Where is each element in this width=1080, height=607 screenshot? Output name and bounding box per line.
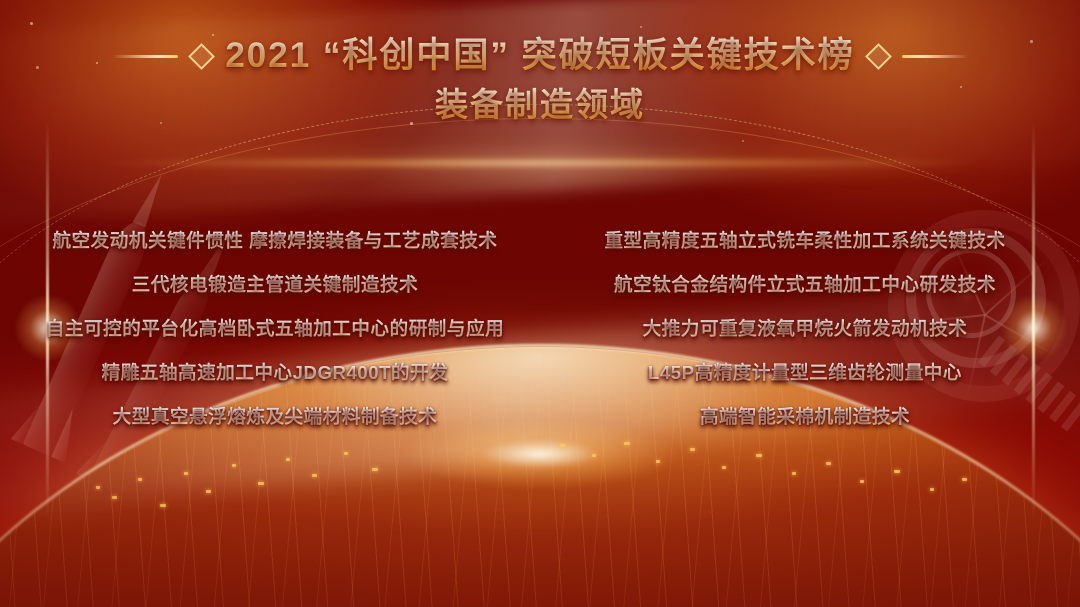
city-light <box>312 474 317 477</box>
list-item: 航空钛合金结构件立式五轴加工中心研发技术 <box>570 272 1040 298</box>
poster-canvas: 2021 “科创中国” 突破短板关键技术榜 装备制造领域 航空发动机关键件惯性 … <box>0 0 1080 607</box>
city-light <box>160 504 166 507</box>
list-item: 大推力可重复液氧甲烷火箭发动机技术 <box>570 316 1040 342</box>
list-item: 精雕五轴高速加工中心JDGR400T的开发 <box>40 360 510 386</box>
particle <box>742 140 744 142</box>
technology-list-right-column: 重型高精度五轴立式铣车柔性加工系统关键技术 航空钛合金结构件立式五轴加工中心研发… <box>570 228 1040 430</box>
city-light <box>96 486 100 489</box>
particle <box>268 148 270 150</box>
city-light <box>826 462 831 465</box>
city-light <box>722 466 726 469</box>
technology-list-left-column: 航空发动机关键件惯性 摩擦焊接装备与工艺成套技术 三代核电锻造主管道关键制造技术… <box>40 228 510 430</box>
list-item: L45P高精度计量型三维齿轮测量中心 <box>570 360 1040 386</box>
page-subtitle: 装备制造领域 <box>0 82 1080 128</box>
city-light <box>232 464 236 467</box>
city-light <box>656 460 660 463</box>
city-light <box>206 490 211 493</box>
city-light <box>792 472 796 475</box>
list-item: 自主可控的平台化高档卧式五轴加工中心的研制与应用 <box>40 316 510 342</box>
page-title: 2021 “科创中国” 突破短板关键技术榜 <box>225 32 854 80</box>
list-item: 航空发动机关键件惯性 摩擦焊接装备与工艺成套技术 <box>40 228 510 254</box>
list-item: 高端智能采棉机制造技术 <box>570 404 1040 430</box>
city-light <box>930 488 934 491</box>
particle <box>640 26 642 28</box>
city-light <box>860 480 864 483</box>
city-light <box>112 496 117 499</box>
diamond-ornament-right-icon <box>865 43 892 70</box>
particle <box>30 22 33 25</box>
poster-header: 2021 “科创中国” 突破短板关键技术榜 装备制造领域 <box>0 32 1080 128</box>
technology-list: 航空发动机关键件惯性 摩擦焊接装备与工艺成套技术 三代核电锻造主管道关键制造技术… <box>0 228 1080 430</box>
city-light <box>962 478 967 481</box>
light-streak <box>86 158 993 168</box>
list-item: 大型真空悬浮熔炼及尖端材料制备技术 <box>40 404 510 430</box>
diamond-ornament-left-icon <box>188 43 215 70</box>
title-rule-right <box>902 55 968 58</box>
city-light <box>138 478 142 481</box>
city-light <box>894 470 900 473</box>
city-light <box>258 482 264 485</box>
title-rule-left <box>112 55 178 58</box>
title-row: 2021 “科创中国” 突破短板关键技术榜 <box>0 32 1080 80</box>
list-item: 重型高精度五轴立式铣车柔性加工系统关键技术 <box>570 228 1040 254</box>
list-item: 三代核电锻造主管道关键制造技术 <box>40 272 510 298</box>
city-light <box>184 472 188 475</box>
city-light <box>372 468 378 471</box>
